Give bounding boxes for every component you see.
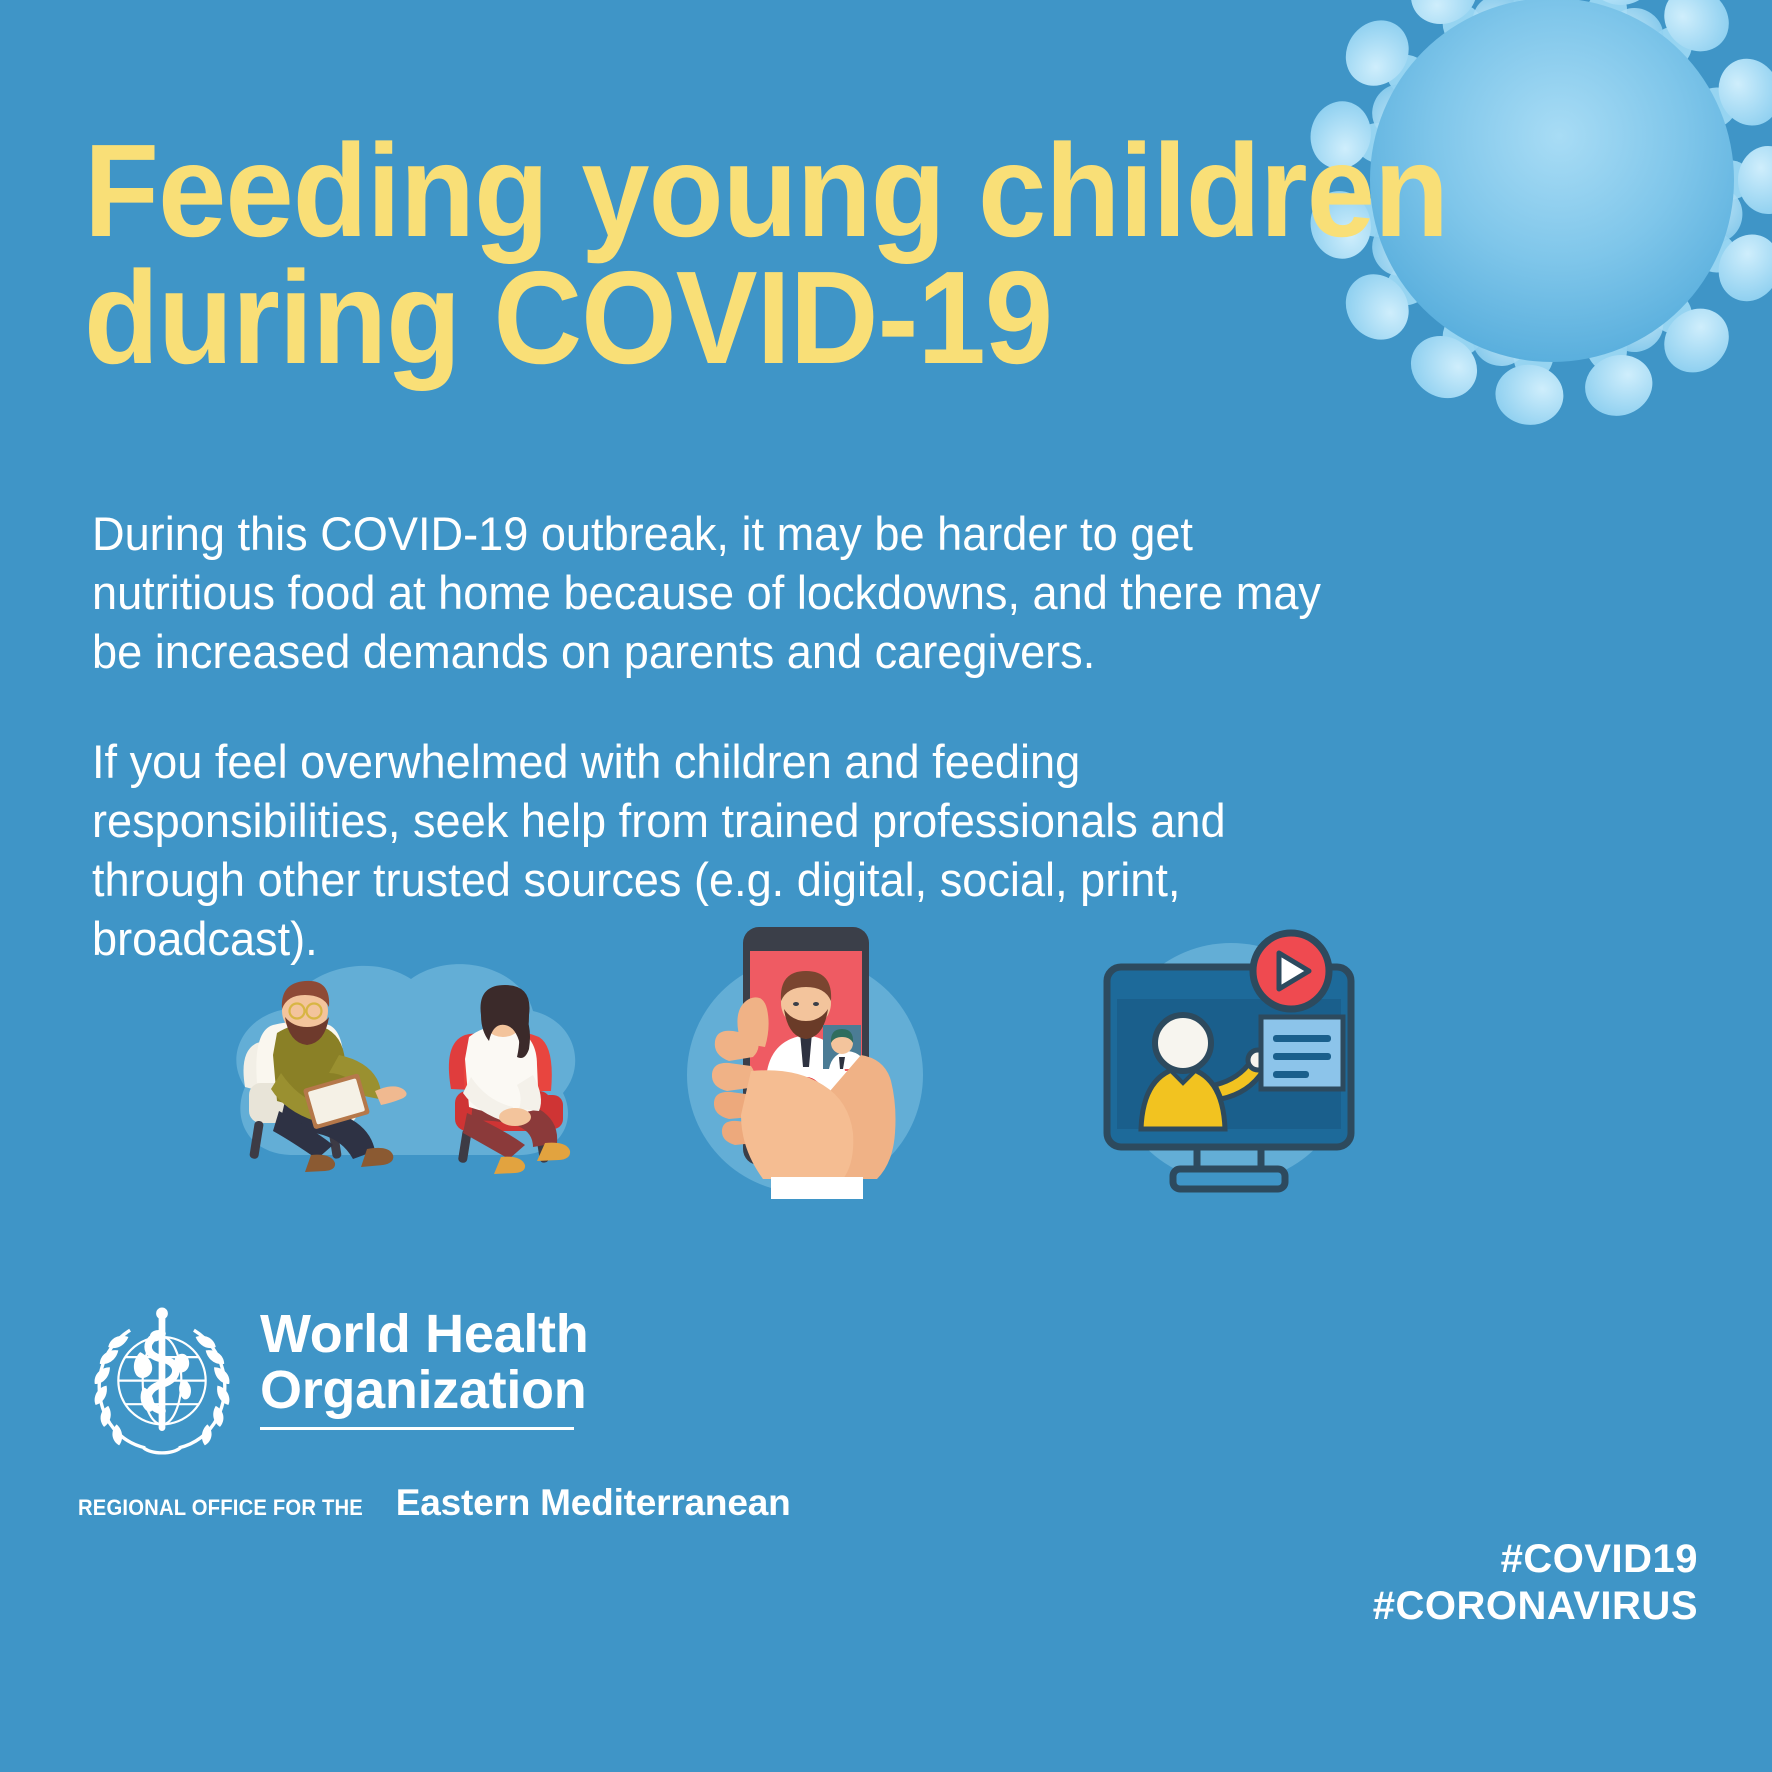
- who-logo: World Health Organization REGIONAL OFFIC…: [78, 1300, 548, 1524]
- who-name-line-2: Organization: [260, 1362, 588, 1418]
- hashtag-block: #COVID19 #CORONAVIRUS: [1373, 1536, 1698, 1630]
- who-name-line-1: World Health: [260, 1306, 588, 1362]
- online-video-illustration: A desktop monitor displaying a presenter…: [1045, 905, 1395, 1205]
- rod-of-asclepius: [148, 1308, 176, 1431]
- page-title: Feeding young children during COVID-19: [84, 128, 1384, 381]
- illustration-row: A bearded counsellor with glasses holdin…: [0, 905, 1772, 1245]
- video-call-illustration: A hand holding a smartphone showing a vi…: [655, 905, 985, 1235]
- poster-canvas: Feeding young children during COVID-19 D…: [0, 0, 1772, 1772]
- who-emblem-icon: [78, 1300, 246, 1468]
- regional-office-name: Eastern Mediterranean: [396, 1482, 791, 1524]
- play-button-badge[interactable]: [1253, 933, 1329, 1009]
- title-line-2: during COVID-19: [84, 255, 1293, 382]
- body-copy: During this COVID-19 outbreak, it may be…: [92, 505, 1402, 968]
- slide-text-panel: [1261, 1017, 1343, 1089]
- body-paragraph-1: During this COVID-19 outbreak, it may be…: [92, 505, 1350, 681]
- shirt-cuff: [771, 1177, 863, 1199]
- title-line-1: Feeding young children: [84, 128, 1293, 255]
- hashtag-coronavirus: #CORONAVIRUS: [1373, 1583, 1698, 1630]
- who-divider: [260, 1427, 574, 1430]
- regional-office-prefix: REGIONAL OFFICE FOR THE: [78, 1495, 363, 1521]
- in-person-counselling-illustration: A bearded counsellor with glasses holdin…: [215, 905, 595, 1205]
- hashtag-covid19: #COVID19: [1373, 1536, 1698, 1583]
- who-regional-office: REGIONAL OFFICE FOR THE Eastern Mediterr…: [78, 1482, 548, 1524]
